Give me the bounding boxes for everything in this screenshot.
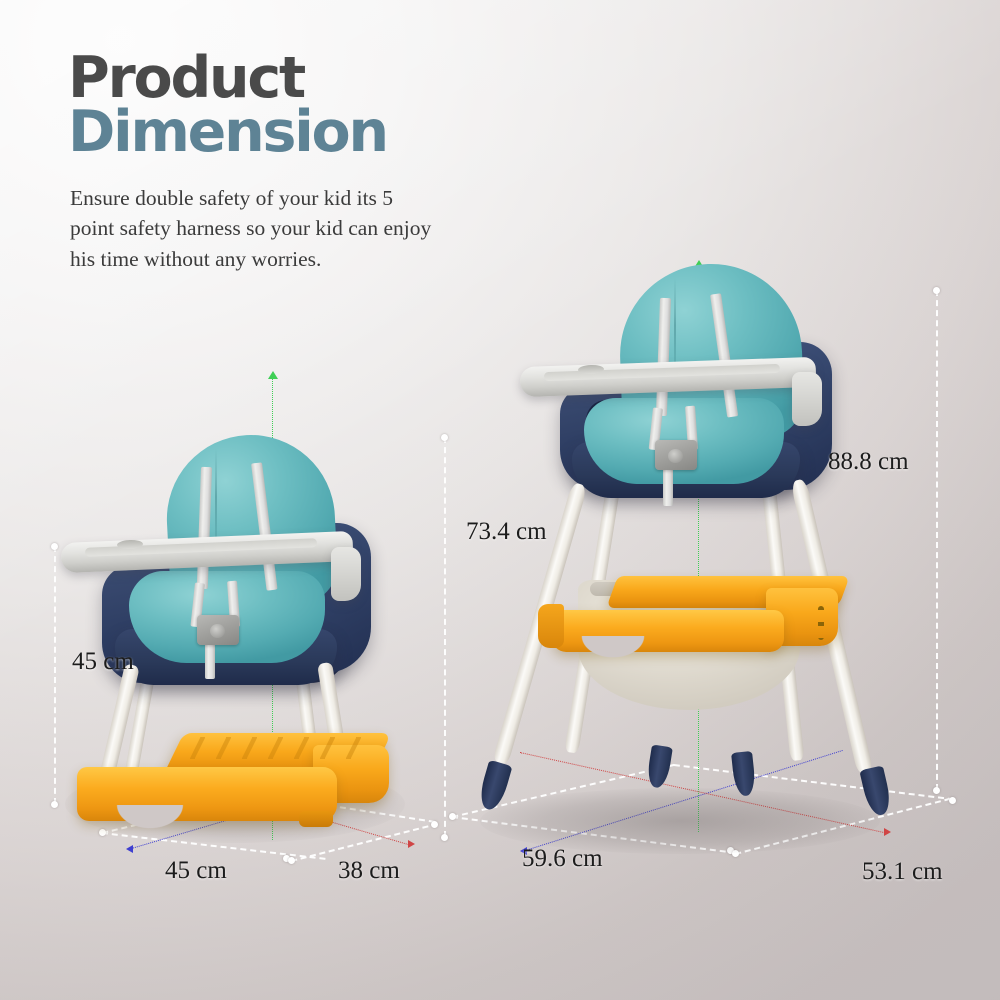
product-render-low-chair: baybee xyxy=(55,415,435,840)
base-foot-right xyxy=(299,811,333,827)
label-right-seat-height: 73.4 cm xyxy=(466,518,547,546)
base-frame-front-arch xyxy=(578,636,648,660)
dimension-line-right-total-height xyxy=(936,290,938,790)
page-title-line2: Dimension xyxy=(68,106,498,158)
harness-crotch-strap xyxy=(663,468,673,506)
base-frame-left-end xyxy=(538,604,564,648)
infographic-canvas: Product Dimension Ensure double safety o… xyxy=(0,0,1000,1000)
harness-crotch-strap xyxy=(205,643,215,679)
dimension-endpoint-right-height-bottom xyxy=(933,787,940,794)
tray-arm-connector xyxy=(792,372,822,426)
chair-leg-tip-rear-left xyxy=(646,744,673,789)
label-right-width: 59.6 cm xyxy=(522,845,603,873)
dimension-endpoint-right-height-top xyxy=(933,287,940,294)
harness-buckle-center xyxy=(668,449,683,463)
dimension-endpoint-right-width-near xyxy=(449,813,456,820)
axis-arrow-left-width xyxy=(126,845,133,853)
label-left-depth: 38 cm xyxy=(338,857,400,885)
label-left-height: 45 cm xyxy=(72,648,134,676)
product-render-high-chair: baybee xyxy=(460,258,910,838)
dimension-endpoint-left-side-bottom xyxy=(441,834,448,841)
label-right-depth: 53.1 cm xyxy=(862,858,943,886)
label-right-total-height: 88.8 cm xyxy=(828,448,909,476)
dimension-endpoint-right-depth-far xyxy=(949,797,956,804)
base-frame-ribs xyxy=(190,737,371,759)
base-frame-rivets xyxy=(818,606,824,640)
tray-arm-connector xyxy=(331,547,361,601)
axis-arrow-left-vertical xyxy=(268,371,278,379)
header-block: Product Dimension Ensure double safety o… xyxy=(68,52,498,274)
dimension-line-left-side-guide xyxy=(444,437,446,837)
page-title-line1: Product xyxy=(68,52,498,104)
label-left-width: 45 cm xyxy=(165,857,227,885)
dimension-endpoint-left-side-top xyxy=(441,434,448,441)
axis-arrow-left-depth xyxy=(408,840,415,848)
harness-buckle-center xyxy=(210,624,225,638)
base-frame-front-arch xyxy=(113,805,187,831)
subtitle-text: Ensure double safety of your kid its 5 p… xyxy=(70,183,442,275)
dimension-endpoint-left-depth-near xyxy=(288,857,295,864)
